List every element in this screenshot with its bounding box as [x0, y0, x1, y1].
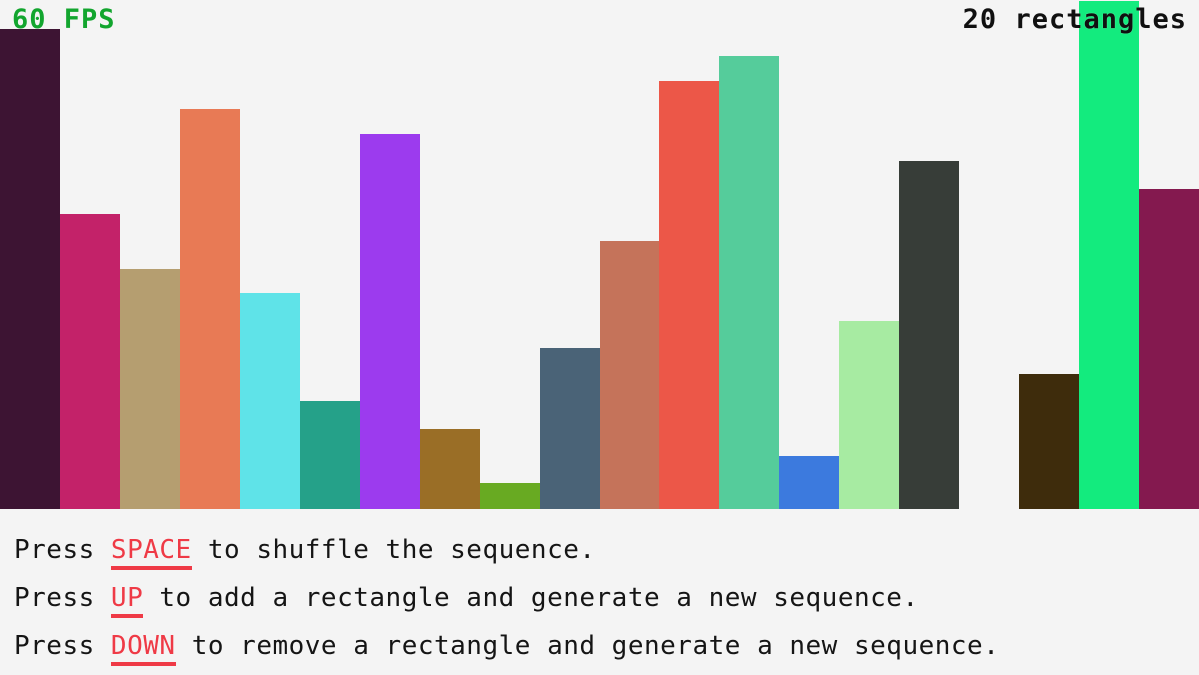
instruction-line-3: Press DOWN to remove a rectangle and gen… [14, 622, 1199, 670]
bar-3 [120, 269, 180, 509]
instruction-suffix: to remove a rectangle and generate a new… [176, 631, 1000, 661]
bar-9 [480, 483, 540, 509]
bar-19 [1079, 1, 1139, 509]
rectangle-count-label: 20 rectangles [963, 6, 1187, 33]
bar-10 [540, 348, 600, 509]
key-up[interactable]: UP [111, 583, 143, 618]
instruction-line-2: Press UP to add a rectangle and generate… [14, 574, 1199, 622]
rectangle-canvas[interactable] [0, 0, 1199, 509]
bar-7 [360, 134, 420, 509]
instruction-prefix: Press [14, 631, 111, 661]
bar-15 [839, 321, 899, 509]
instruction-prefix: Press [14, 583, 111, 613]
instructions-panel: Press SPACE to shuffle the sequence.Pres… [0, 509, 1199, 675]
bar-series [0, 1, 1199, 509]
key-space[interactable]: SPACE [111, 535, 192, 570]
bar-12 [659, 81, 719, 509]
bar-20 [1139, 189, 1199, 509]
bar-11 [600, 241, 660, 509]
bar-16 [899, 161, 959, 509]
app-root: 60 FPS 20 rectangles Press SPACE to shuf… [0, 0, 1199, 675]
bar-5 [240, 293, 300, 509]
bar-1 [0, 29, 60, 509]
bar-6 [300, 401, 360, 509]
bar-8 [420, 429, 480, 509]
bar-13 [719, 56, 779, 509]
bar-18 [1019, 374, 1079, 509]
bar-4 [180, 109, 240, 509]
instruction-line-1: Press SPACE to shuffle the sequence. [14, 526, 1199, 574]
instruction-prefix: Press [14, 535, 111, 565]
instruction-suffix: to add a rectangle and generate a new se… [143, 583, 918, 613]
fps-counter: 60 FPS [12, 6, 116, 33]
bar-14 [779, 456, 839, 509]
key-down[interactable]: DOWN [111, 631, 176, 666]
instruction-suffix: to shuffle the sequence. [192, 535, 596, 565]
bar-2 [60, 214, 120, 509]
